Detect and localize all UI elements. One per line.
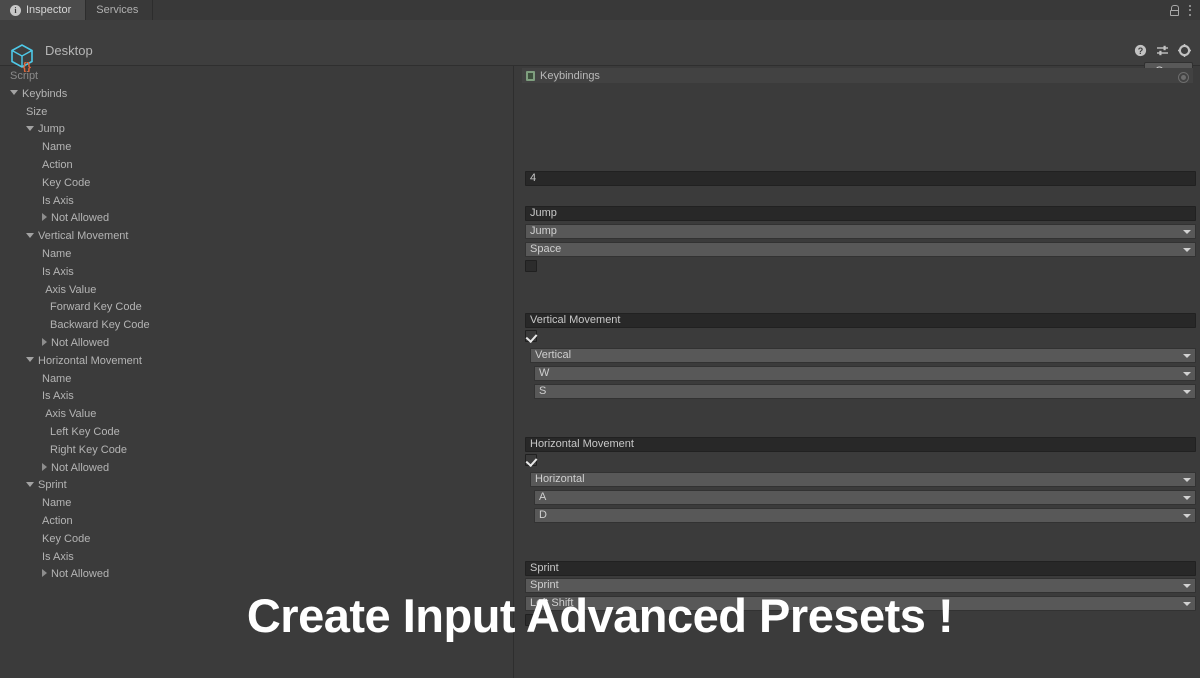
horizontal-axisvalue-dropdown[interactable]: Horizontal (530, 472, 1196, 487)
tab-inspector-label: Inspector (26, 4, 71, 16)
property-row: Is Axis (42, 549, 74, 567)
property-label: Not Allowed (51, 568, 109, 580)
script-icon (526, 71, 535, 81)
property-row: Is Axis (42, 388, 74, 406)
field-value: Vertical (535, 349, 571, 361)
field-value: Vertical Movement (530, 314, 620, 326)
gear-icon[interactable] (1178, 44, 1191, 57)
vertical-isaxis-checkbox[interactable] (525, 330, 537, 342)
jump-isaxis-checkbox[interactable] (525, 260, 537, 272)
field-value: Sprint (530, 562, 559, 574)
property-row: Left Key Code (50, 424, 120, 442)
property-row: Action (42, 157, 73, 175)
tab-services[interactable]: Services (86, 0, 153, 20)
help-icon[interactable]: ? (1134, 44, 1147, 57)
property-label: Action (42, 515, 73, 527)
vertical-forward-dropdown[interactable]: W (534, 366, 1196, 381)
kebab-menu-icon[interactable] (1188, 5, 1191, 16)
property-row[interactable]: Not Allowed (42, 335, 109, 353)
property-label: Name (42, 373, 71, 385)
property-row: Is Axis (42, 193, 74, 211)
field-value: D (539, 509, 547, 521)
horizontal-isaxis-checkbox[interactable] (525, 454, 537, 466)
chevron-down-icon (1183, 496, 1191, 500)
property-row: Name (42, 371, 71, 389)
keybindings-component-header[interactable]: Keybindings (522, 68, 1193, 83)
property-row[interactable]: Keybinds (10, 86, 67, 104)
keybindings-label: Keybindings (540, 70, 600, 82)
horizontal-left-dropdown[interactable]: A (534, 490, 1196, 505)
vertical-backward-dropdown[interactable]: S (534, 384, 1196, 399)
property-label: Sprint (38, 479, 67, 491)
jump-action-dropdown[interactable]: Jump (525, 224, 1196, 239)
property-label: Axis Value (45, 408, 96, 420)
jump-name-field[interactable]: Jump (525, 206, 1196, 221)
window-tab-bar: i Inspector Services (0, 0, 1200, 20)
chevron-down-icon (1183, 248, 1191, 252)
horizontal-name-field[interactable]: Horizontal Movement (525, 437, 1196, 452)
field-value: W (539, 367, 549, 379)
overlay-headline: Create Input Advanced Presets ! (0, 585, 1200, 647)
property-row[interactable]: Jump (26, 121, 65, 139)
property-row: Key Code (42, 175, 90, 193)
property-row: Script (10, 68, 38, 86)
field-value: A (539, 491, 546, 503)
property-row: Right Key Code (50, 442, 127, 460)
chevron-down-icon[interactable] (26, 482, 34, 487)
window-tab-controls (1170, 0, 1200, 20)
property-row: Name (42, 246, 71, 264)
property-row: Name (42, 139, 71, 157)
field-value: Jump (530, 225, 557, 237)
property-label: Horizontal Movement (38, 355, 142, 367)
property-label: Axis Value (45, 284, 96, 296)
property-label: Key Code (42, 533, 90, 545)
page-title: Desktop (45, 43, 93, 58)
chevron-right-icon[interactable] (42, 463, 47, 471)
sprint-name-field[interactable]: Sprint (525, 561, 1196, 576)
field-value: S (539, 385, 546, 397)
property-label: Not Allowed (51, 462, 109, 474)
inspector-header-icons: ? (1134, 44, 1191, 57)
property-row[interactable]: Vertical Movement (26, 228, 128, 246)
property-row: Axis Value (45, 406, 96, 424)
chevron-down-icon[interactable] (10, 90, 18, 95)
property-label: Jump (38, 123, 65, 135)
property-row[interactable]: Sprint (26, 477, 67, 495)
property-label: Forward Key Code (50, 301, 142, 313)
chevron-down-icon (1183, 514, 1191, 518)
chevron-down-icon (1183, 478, 1191, 482)
property-row[interactable]: Horizontal Movement (26, 353, 142, 371)
property-label: Keybinds (22, 88, 67, 100)
chevron-down-icon (1183, 354, 1191, 358)
property-label: Size (26, 106, 47, 118)
property-label: Name (42, 248, 71, 260)
property-row: Name (42, 495, 71, 513)
chevron-down-icon (1183, 372, 1191, 376)
chevron-right-icon[interactable] (42, 569, 47, 577)
preset-icon[interactable] (1156, 44, 1169, 57)
object-picker-icon[interactable] (1178, 72, 1189, 83)
unity-inspector-window: i Inspector Services {} Desktop (0, 0, 1200, 678)
property-label: Key Code (42, 177, 90, 189)
property-label: Is Axis (42, 195, 74, 207)
info-icon: i (10, 5, 21, 16)
property-label: Name (42, 141, 71, 153)
property-row: Action (42, 513, 73, 531)
chevron-down-icon[interactable] (26, 357, 34, 362)
inspector-object-header: {} Desktop ? (0, 20, 1200, 66)
tab-inspector[interactable]: i Inspector (0, 0, 86, 20)
field-value: Horizontal Movement (530, 438, 634, 450)
chevron-right-icon[interactable] (42, 213, 47, 221)
field-value: Horizontal (535, 473, 585, 485)
property-row: Forward Key Code (50, 299, 142, 317)
property-label: Not Allowed (51, 337, 109, 349)
chevron-right-icon[interactable] (42, 338, 47, 346)
field-value: Jump (530, 207, 557, 219)
lock-icon[interactable] (1170, 5, 1179, 16)
property-label: Vertical Movement (38, 230, 128, 242)
property-row: Backward Key Code (50, 317, 150, 335)
property-row: Size (26, 104, 47, 122)
property-label: Is Axis (42, 551, 74, 563)
chevron-down-icon (1183, 230, 1191, 234)
property-label: Name (42, 497, 71, 509)
property-row[interactable]: Not Allowed (42, 460, 109, 478)
property-row: Key Code (42, 531, 90, 549)
chevron-down-icon (1183, 390, 1191, 394)
property-row: Axis Value (45, 282, 96, 300)
tab-services-label: Services (96, 4, 138, 16)
chevron-down-icon[interactable] (26, 233, 34, 238)
horizontal-right-dropdown[interactable]: D (534, 508, 1196, 523)
property-label: Is Axis (42, 266, 74, 278)
property-row: Is Axis (42, 264, 74, 282)
field-value: 4 (530, 172, 536, 184)
property-label: Script (10, 70, 38, 82)
property-label: Not Allowed (51, 212, 109, 224)
svg-text:?: ? (1138, 46, 1144, 56)
property-label: Is Axis (42, 390, 74, 402)
array-size-field[interactable]: 4 (525, 171, 1196, 186)
vertical-name-field[interactable]: Vertical Movement (525, 313, 1196, 328)
field-value: Space (530, 243, 561, 255)
property-label: Action (42, 159, 73, 171)
vertical-axisvalue-dropdown[interactable]: Vertical (530, 348, 1196, 363)
property-row[interactable]: Not Allowed (42, 210, 109, 228)
property-label: Backward Key Code (50, 319, 150, 331)
jump-keycode-dropdown[interactable]: Space (525, 242, 1196, 257)
property-label: Left Key Code (50, 426, 120, 438)
chevron-down-icon[interactable] (26, 126, 34, 131)
property-label: Right Key Code (50, 444, 127, 456)
property-row[interactable]: Not Allowed (42, 566, 109, 584)
